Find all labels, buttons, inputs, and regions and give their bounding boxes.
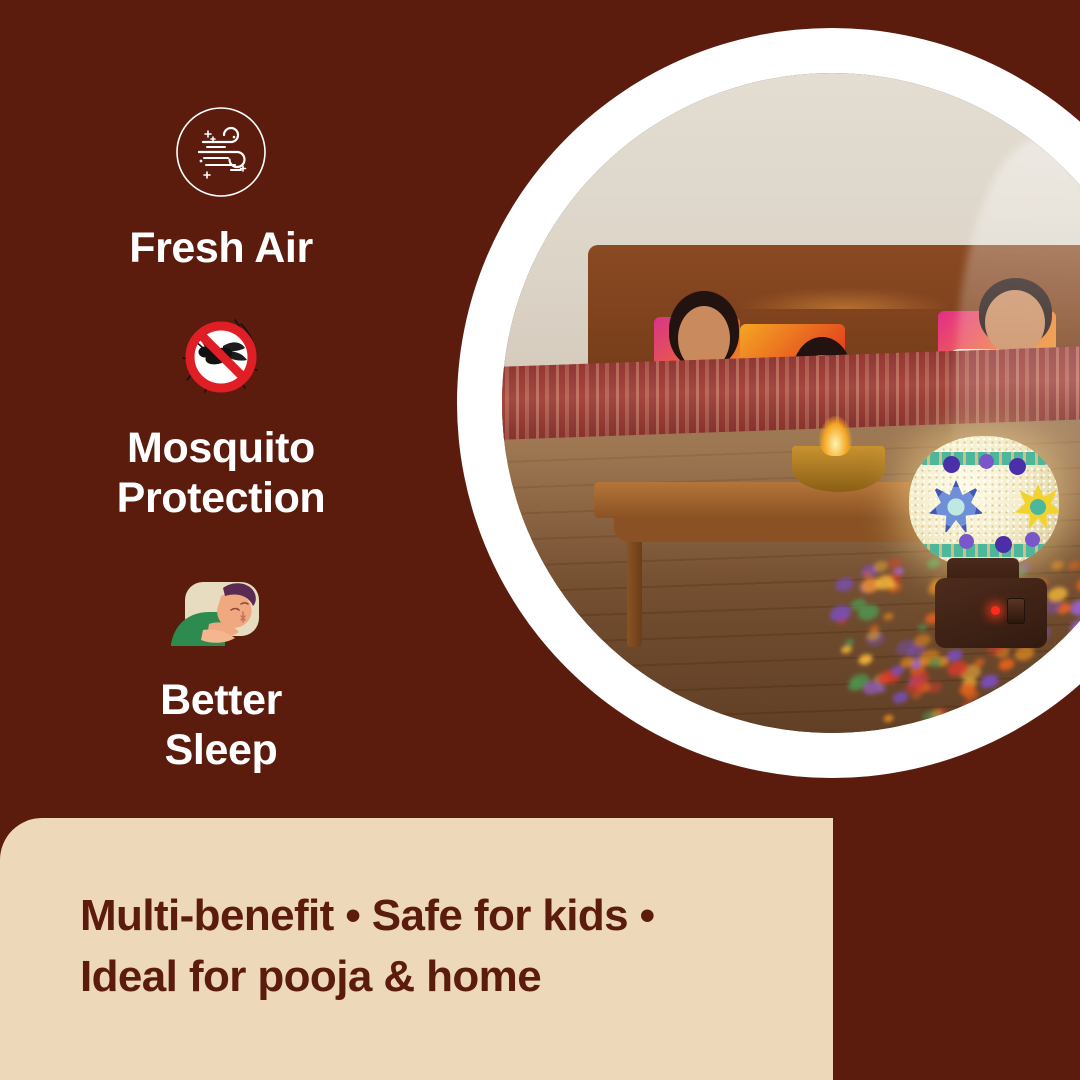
sleeping-person-icon [169,566,273,652]
feature-label-mosquito-protection: Mosquito Protection [117,424,326,524]
tagline-panel: Multi-benefit • Safe for kids • Ideal fo… [0,818,833,1080]
feature-item-better-sleep: Better Sleep [0,566,442,776]
mosaic-plug-in-night-lamp [895,420,1080,660]
no-mosquito-icon [175,314,267,400]
lamp-power-switch[interactable] [1007,598,1025,624]
lamp-power-indicator-icon [991,606,1000,615]
feature-item-fresh-air: Fresh Air [0,104,442,274]
feature-label-fresh-air: Fresh Air [129,224,313,274]
feature-list: Fresh Air [0,0,442,800]
feature-label-better-sleep: Better Sleep [160,676,282,776]
photo-diya-flame [819,416,852,456]
feature-item-mosquito-protection: Mosquito Protection [0,314,442,524]
wind-circle-icon [173,104,269,200]
tagline-text: Multi-benefit • Safe for kids • Ideal fo… [80,886,833,1007]
lamp-mosaic-globe [909,436,1059,568]
